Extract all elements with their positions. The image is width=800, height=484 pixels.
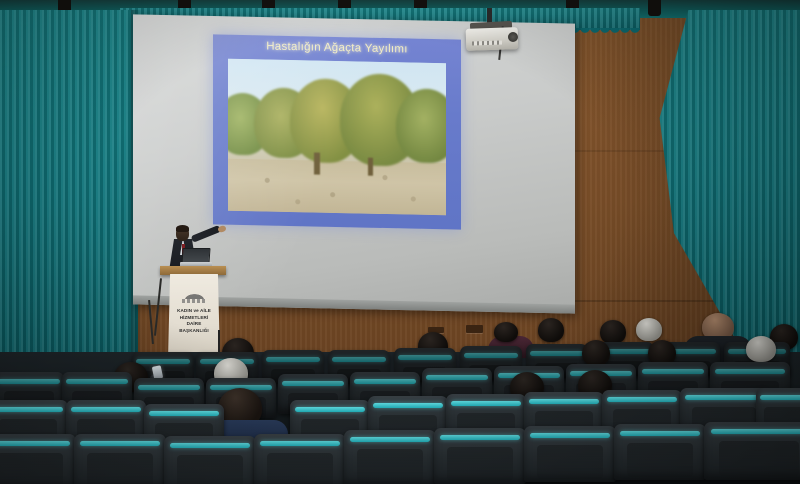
institution-logo-subtext: [182, 299, 207, 303]
attendee-head: [600, 320, 626, 344]
photo-tree-trunk: [314, 153, 320, 175]
photo-tree-trunk: [368, 158, 373, 176]
seat[interactable]: [74, 434, 166, 484]
ceiling-mount-icon: [648, 0, 661, 16]
seat[interactable]: [0, 434, 76, 484]
seat[interactable]: [344, 430, 436, 484]
attendee-head: [538, 318, 564, 342]
projected-slide: Hastalığın Ağaçta Yayılımı: [213, 34, 461, 229]
podium-sign-line-1: KADIN ve AİLE: [168, 308, 220, 315]
seat[interactable]: [254, 434, 346, 484]
seat[interactable]: [164, 436, 256, 484]
podium-sign: KADIN ve AİLE HİZMETLERİ DAİRE BAŞKANLIĞ…: [168, 308, 220, 335]
seat[interactable]: [434, 428, 526, 484]
seat[interactable]: [524, 426, 616, 482]
attendee-head: [746, 336, 776, 362]
presenter-hair: [176, 225, 189, 232]
slide-photo: [228, 59, 446, 216]
seat[interactable]: [614, 424, 706, 480]
slide-title: Hastalığın Ağaçta Yayılımı: [213, 39, 461, 56]
photo-ground-texture: [228, 159, 446, 215]
attendee-head: [494, 322, 518, 342]
attendee-head: [636, 318, 662, 341]
wall-switch-icon: [466, 325, 483, 333]
curtain-left: [0, 10, 138, 384]
podium-top-surface: [160, 266, 226, 275]
presenter-laptop-screen[interactable]: [181, 248, 210, 263]
projector-lens-icon: [508, 32, 518, 42]
photo-tree: [396, 88, 446, 163]
podium-sign-line-4: BAŞKANLIĞI: [168, 328, 220, 335]
auditorium-scene: Hastalığın Ağaçta Yayılımı KADIN ve AİLE: [0, 0, 800, 484]
attendee-head: [582, 340, 610, 366]
seat[interactable]: [704, 422, 800, 480]
podium-sign-line-3: DAİRE: [168, 321, 220, 328]
institution-logo-icon: [178, 290, 211, 299]
